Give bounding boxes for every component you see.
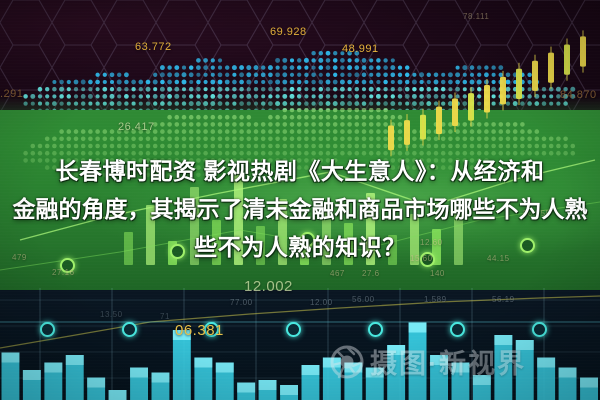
node-marker [122,322,137,337]
watermark-text: 摄图·新视界 [370,342,526,381]
watermark: 摄图·新视界 [330,342,526,381]
headline-line-1: 长春博时配资 影视热剧《大生意人》：从经济和 [0,152,600,190]
camera-aperture-icon [330,345,364,379]
background-number-label: 78.111 [463,12,489,21]
headline-line-2: 金融的角度，其揭示了清末金融和商品市场哪些不为人熟 [0,190,600,228]
background-number-label: 140 [430,269,445,278]
node-marker [368,322,383,337]
node-marker [286,322,301,337]
background-number-label: 27.16 [52,268,75,277]
background-number-label: 467 [330,269,345,278]
background-number-label: 48.991 [342,43,379,55]
background-number-label: 12.002 [244,278,293,295]
background-number-label: 27.6 [362,269,380,278]
background-number-label: 13.50 [100,310,123,319]
node-marker [450,322,465,337]
node-marker [40,322,55,337]
banner-image: .29163.77269.92848.99178.11184.87026.417… [0,0,600,400]
headline-line-3: 些不为人熟的知识？ [0,228,600,266]
background-number-label: 26.417 [118,121,155,133]
background-number-label: 84.870 [560,89,597,101]
background-number-label: 56.00 [352,295,375,304]
background-number-label: 06.381 [175,322,224,339]
background-number-label: 12.00 [310,298,333,307]
headline-text: 长春博时配资 影视热剧《大生意人》：从经济和 金融的角度，其揭示了清末金融和商品… [0,152,600,266]
background-number-label: 71 [160,312,170,321]
background-number-label: 69.928 [270,26,307,38]
node-marker [532,322,547,337]
background-number-label: 63.772 [135,41,172,53]
background-number-label: 77.00 [230,298,253,307]
background-number-label: 56.19 [492,295,515,304]
background-number-label: .291 [0,88,23,100]
background-number-label: 1.589 [424,295,447,304]
